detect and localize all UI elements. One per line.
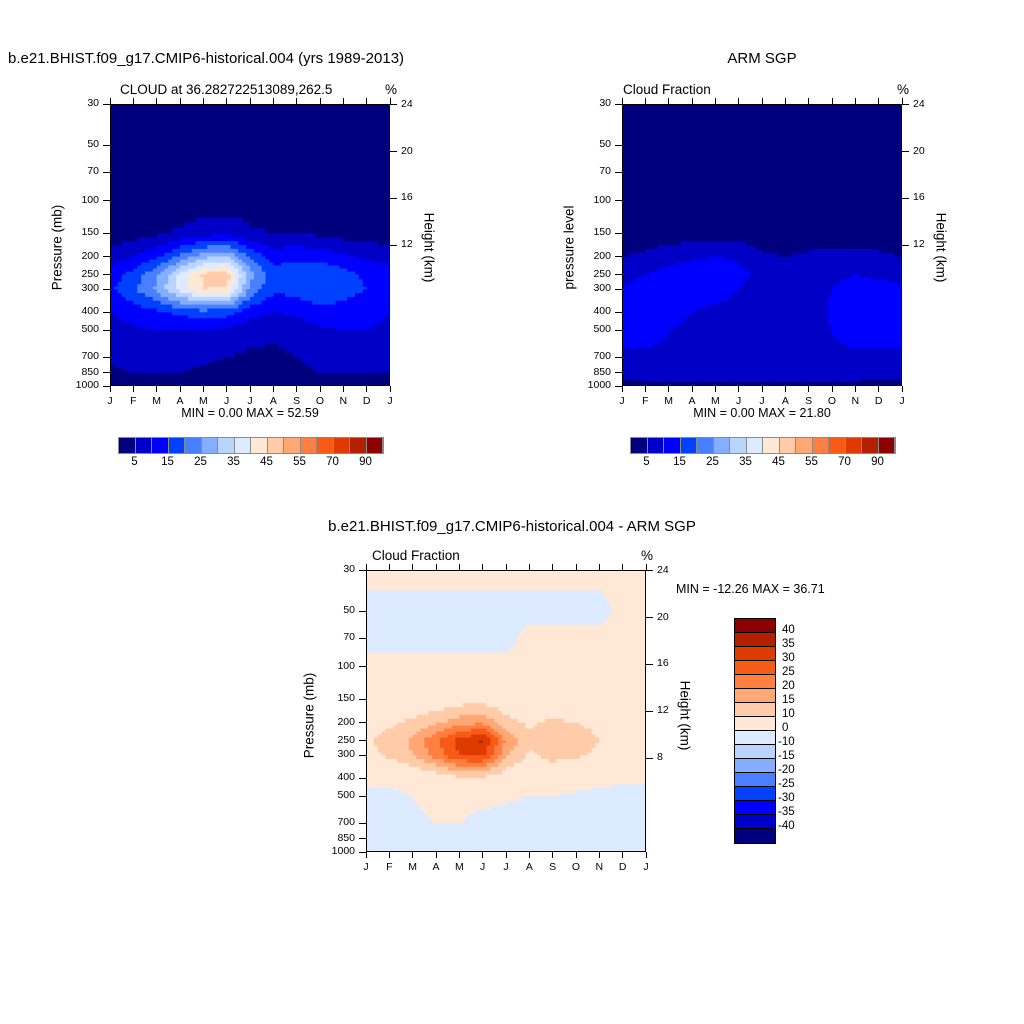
colorbar-tick-label: 90 [862, 456, 894, 468]
month-tick-bottom [832, 386, 833, 392]
model-axes-decor: 3050701001502002503004005007008501000121… [0, 0, 512, 500]
colorbar-tick-label: 35 [730, 456, 762, 468]
month-tick-top [878, 98, 879, 104]
height-tick-label: 8 [657, 751, 687, 763]
difference-minmax: MIN = -12.26 MAX = 36.71 [676, 582, 825, 596]
month-label: M [403, 861, 423, 873]
colorbar-swatch [735, 675, 775, 689]
colorbar-tick-label: -10 [778, 736, 824, 748]
colorbar-swatch [284, 438, 301, 453]
month-tick-top [156, 98, 157, 104]
colorbar-swatch [735, 647, 775, 661]
month-label: J [496, 861, 516, 873]
month-tick-bottom [482, 852, 483, 858]
month-tick-top [180, 98, 181, 104]
pressure-tick-label: 250 [318, 734, 355, 746]
pressure-tick [103, 274, 110, 275]
colorbar-tick-label: 70 [317, 456, 349, 468]
pressure-tick-label: 100 [318, 660, 355, 672]
pressure-tick [615, 274, 622, 275]
difference-colorbar [734, 618, 776, 844]
panel-model: b.e21.BHIST.f09_g17.CMIP6-historical.004… [0, 0, 512, 500]
height-tick-label: 20 [657, 611, 687, 623]
pressure-tick [103, 256, 110, 257]
pressure-tick-label: 700 [574, 350, 611, 362]
month-label: M [449, 861, 469, 873]
pressure-tick-label: 200 [62, 250, 99, 262]
month-label: D [613, 861, 633, 873]
month-tick-bottom [692, 386, 693, 392]
month-label: S [543, 861, 563, 873]
pressure-tick [103, 172, 110, 173]
month-tick-bottom [529, 852, 530, 858]
colorbar-tick-label: 35 [778, 638, 828, 650]
colorbar-tick-label: 45 [251, 456, 283, 468]
month-label: A [426, 861, 446, 873]
pressure-tick [103, 289, 110, 290]
colorbar-swatch [735, 633, 775, 647]
pressure-tick [359, 838, 366, 839]
colorbar-swatch [317, 438, 334, 453]
model-colorbar [118, 437, 384, 454]
height-tick-label: 16 [913, 191, 943, 203]
colorbar-swatch [780, 438, 797, 453]
month-tick-top [645, 98, 646, 104]
colorbar-tick-label: -30 [778, 792, 824, 804]
colorbar-tick-label: 25 [778, 666, 828, 678]
model-colorbar-labels: 515253545557090 [118, 456, 382, 474]
height-tick-label: 24 [913, 98, 943, 110]
month-tick-bottom [738, 386, 739, 392]
pressure-tick-label: 1000 [318, 845, 355, 857]
colorbar-tick-label: 30 [778, 652, 828, 664]
month-tick-bottom [808, 386, 809, 392]
month-tick-bottom [390, 386, 391, 392]
colorbar-swatch [730, 438, 747, 453]
pressure-tick [615, 312, 622, 313]
pressure-tick [103, 145, 110, 146]
difference-colorbar-labels: 403530252015100-10-15-20-25-30-35-40 [778, 618, 838, 842]
month-tick-bottom [133, 386, 134, 392]
colorbar-tick-label: 90 [350, 456, 382, 468]
height-tick [902, 104, 909, 105]
obs-minmax: MIN = 0.00 MAX = 21.80 [622, 406, 902, 420]
month-tick-bottom [250, 386, 251, 392]
month-tick-top [738, 98, 739, 104]
height-tick [390, 104, 397, 105]
month-tick-top [902, 98, 903, 104]
colorbar-swatch [735, 689, 775, 703]
month-tick-top [785, 98, 786, 104]
height-tick-label: 16 [401, 191, 431, 203]
month-label: A [519, 861, 539, 873]
month-tick-bottom [203, 386, 204, 392]
pressure-tick-label: 500 [318, 789, 355, 801]
month-tick-bottom [855, 386, 856, 392]
height-tick-label: 24 [401, 98, 431, 110]
month-tick-bottom [506, 852, 507, 858]
pressure-tick-label: 30 [574, 97, 611, 109]
colorbar-swatch [735, 717, 775, 731]
month-tick-bottom [646, 852, 647, 858]
month-tick-bottom [459, 852, 460, 858]
colorbar-swatch [862, 438, 879, 453]
pressure-tick-label: 100 [62, 194, 99, 206]
colorbar-swatch [681, 438, 698, 453]
month-tick-top [226, 98, 227, 104]
colorbar-tick-label: 15 [664, 456, 696, 468]
pressure-tick-label: 70 [318, 631, 355, 643]
pressure-tick-label: 70 [62, 165, 99, 177]
colorbar-swatch [735, 815, 775, 829]
pressure-tick [359, 666, 366, 667]
pressure-tick-label: 1000 [62, 379, 99, 391]
month-label: N [589, 861, 609, 873]
height-tick [390, 245, 397, 246]
pressure-tick [103, 372, 110, 373]
pressure-tick-label: 150 [574, 226, 611, 238]
colorbar-tick-label: -25 [778, 778, 824, 790]
month-tick-bottom [599, 852, 600, 858]
pressure-tick-label: 300 [62, 282, 99, 294]
colorbar-swatch [735, 773, 775, 787]
pressure-tick [359, 778, 366, 779]
pressure-tick-label: 30 [318, 563, 355, 575]
month-tick-top [762, 98, 763, 104]
height-tick [902, 245, 909, 246]
colorbar-swatch [714, 438, 731, 453]
colorbar-tick-label: 10 [778, 708, 828, 720]
pressure-tick [615, 372, 622, 373]
height-tick-label: 20 [401, 145, 431, 157]
colorbar-tick-label: 5 [119, 456, 151, 468]
height-tick-label: 24 [657, 564, 687, 576]
month-tick-top [133, 98, 134, 104]
pressure-tick [359, 638, 366, 639]
colorbar-swatch [829, 438, 846, 453]
pressure-tick [359, 611, 366, 612]
month-tick-top [855, 98, 856, 104]
month-tick-top [506, 564, 507, 570]
colorbar-tick-label: 0 [778, 722, 828, 734]
height-tick [646, 664, 653, 665]
height-tick [902, 198, 909, 199]
pressure-tick-label: 300 [318, 748, 355, 760]
pressure-tick-label: 50 [574, 138, 611, 150]
colorbar-swatch [735, 829, 775, 843]
month-tick-top [366, 564, 367, 570]
pressure-tick [103, 200, 110, 201]
colorbar-swatch [350, 438, 367, 453]
colorbar-swatch [367, 438, 384, 453]
colorbar-swatch [735, 619, 775, 633]
month-tick-top [343, 98, 344, 104]
month-tick-top [110, 98, 111, 104]
colorbar-swatch [185, 438, 202, 453]
pressure-tick [103, 312, 110, 313]
pressure-tick-label: 850 [318, 832, 355, 844]
month-tick-top [576, 564, 577, 570]
pressure-tick [615, 145, 622, 146]
colorbar-tick-label: 25 [185, 456, 217, 468]
month-tick-bottom [366, 852, 367, 858]
pressure-tick [103, 357, 110, 358]
pressure-tick-label: 500 [574, 323, 611, 335]
pressure-tick [615, 289, 622, 290]
month-tick-top [668, 98, 669, 104]
colorbar-swatch [796, 438, 813, 453]
pressure-tick [615, 357, 622, 358]
month-tick-bottom [273, 386, 274, 392]
colorbar-swatch [735, 661, 775, 675]
pressure-tick-label: 50 [318, 604, 355, 616]
height-tick [646, 711, 653, 712]
colorbar-swatch [735, 801, 775, 815]
month-tick-bottom [785, 386, 786, 392]
month-tick-bottom [366, 386, 367, 392]
pressure-tick [359, 796, 366, 797]
month-tick-bottom [296, 386, 297, 392]
colorbar-tick-label: -20 [778, 764, 824, 776]
colorbar-swatch [648, 438, 665, 453]
colorbar-tick-label: 5 [631, 456, 663, 468]
pressure-tick-label: 850 [62, 366, 99, 378]
month-tick-top [296, 98, 297, 104]
month-tick-top [320, 98, 321, 104]
pressure-tick-label: 400 [318, 771, 355, 783]
month-tick-top [482, 564, 483, 570]
month-tick-bottom [552, 852, 553, 858]
colorbar-tick-label: 35 [218, 456, 250, 468]
colorbar-swatch [251, 438, 268, 453]
month-tick-top [808, 98, 809, 104]
obs-axes-decor: 3050701001502002503004005007008501000121… [512, 0, 1024, 500]
colorbar-swatch [235, 438, 252, 453]
colorbar-swatch [763, 438, 780, 453]
height-tick-label: 20 [913, 145, 943, 157]
month-tick-top [389, 564, 390, 570]
colorbar-tick-label: -35 [778, 806, 824, 818]
pressure-tick [359, 722, 366, 723]
month-tick-top [646, 564, 647, 570]
colorbar-tick-label: 70 [829, 456, 861, 468]
colorbar-tick-label: 15 [778, 694, 828, 706]
pressure-tick [359, 740, 366, 741]
month-tick-top [529, 564, 530, 570]
month-tick-top [436, 564, 437, 570]
month-label: J [356, 861, 376, 873]
pressure-tick [615, 172, 622, 173]
month-label: J [473, 861, 493, 873]
obs-colorbar-labels: 515253545557090 [630, 456, 894, 474]
colorbar-swatch [334, 438, 351, 453]
month-tick-bottom [320, 386, 321, 392]
month-tick-bottom [389, 852, 390, 858]
month-label: J [636, 861, 656, 873]
month-tick-bottom [156, 386, 157, 392]
pressure-tick-label: 30 [62, 97, 99, 109]
height-tick [390, 198, 397, 199]
month-tick-bottom [343, 386, 344, 392]
pressure-tick [359, 755, 366, 756]
colorbar-tick-label: 55 [796, 456, 828, 468]
month-tick-bottom [715, 386, 716, 392]
pressure-tick-label: 50 [62, 138, 99, 150]
colorbar-swatch [631, 438, 648, 453]
colorbar-swatch [202, 438, 219, 453]
height-tick [646, 617, 653, 618]
difference-axes-decor: 3050701001502002503004005007008501000812… [256, 500, 768, 900]
month-tick-bottom [762, 386, 763, 392]
pressure-tick-label: 100 [574, 194, 611, 206]
pressure-tick-label: 200 [574, 250, 611, 262]
colorbar-tick-label: 45 [763, 456, 795, 468]
colorbar-swatch [735, 759, 775, 773]
colorbar-swatch [697, 438, 714, 453]
month-tick-top [366, 98, 367, 104]
colorbar-swatch [119, 438, 136, 453]
pressure-tick-label: 150 [62, 226, 99, 238]
height-tick [902, 151, 909, 152]
pressure-tick-label: 150 [318, 692, 355, 704]
month-tick-top [622, 98, 623, 104]
height-tick [646, 758, 653, 759]
colorbar-swatch [879, 438, 896, 453]
month-tick-bottom [436, 852, 437, 858]
month-tick-bottom [180, 386, 181, 392]
pressure-tick-label: 200 [318, 716, 355, 728]
pressure-tick [103, 233, 110, 234]
pressure-tick-label: 500 [62, 323, 99, 335]
pressure-tick [615, 330, 622, 331]
colorbar-tick-label: -40 [778, 820, 824, 832]
pressure-tick [103, 330, 110, 331]
obs-colorbar [630, 437, 896, 454]
month-label: F [379, 861, 399, 873]
colorbar-tick-label: 25 [697, 456, 729, 468]
colorbar-swatch [747, 438, 764, 453]
pressure-tick [615, 256, 622, 257]
height-tick-label: 12 [401, 238, 431, 250]
pressure-tick-label: 1000 [574, 379, 611, 391]
colorbar-swatch [136, 438, 153, 453]
height-tick-label: 12 [657, 704, 687, 716]
panel-difference: b.e21.BHIST.f09_g17.CMIP6-historical.004… [256, 500, 768, 900]
colorbar-swatch [268, 438, 285, 453]
colorbar-tick-label: 20 [778, 680, 828, 692]
colorbar-swatch [735, 731, 775, 745]
month-tick-top [599, 564, 600, 570]
pressure-tick [359, 699, 366, 700]
colorbar-tick-label: -15 [778, 750, 824, 762]
month-tick-bottom [668, 386, 669, 392]
month-tick-top [622, 564, 623, 570]
month-tick-top [552, 564, 553, 570]
colorbar-swatch [846, 438, 863, 453]
pressure-tick-label: 70 [574, 165, 611, 177]
month-tick-top [390, 98, 391, 104]
month-tick-top [203, 98, 204, 104]
colorbar-swatch [735, 787, 775, 801]
colorbar-swatch [735, 703, 775, 717]
pressure-tick [615, 200, 622, 201]
height-tick [646, 570, 653, 571]
height-tick-label: 16 [657, 657, 687, 669]
month-tick-top [250, 98, 251, 104]
month-tick-bottom [622, 852, 623, 858]
pressure-tick-label: 400 [62, 305, 99, 317]
colorbar-swatch [218, 438, 235, 453]
month-tick-bottom [878, 386, 879, 392]
month-tick-top [832, 98, 833, 104]
pressure-tick-label: 250 [574, 268, 611, 280]
month-tick-top [412, 564, 413, 570]
colorbar-swatch [152, 438, 169, 453]
month-tick-bottom [576, 852, 577, 858]
pressure-tick-label: 700 [62, 350, 99, 362]
pressure-tick-label: 400 [574, 305, 611, 317]
colorbar-swatch [813, 438, 830, 453]
month-tick-top [273, 98, 274, 104]
month-tick-bottom [622, 386, 623, 392]
colorbar-swatch [664, 438, 681, 453]
month-tick-bottom [110, 386, 111, 392]
height-tick-label: 12 [913, 238, 943, 250]
colorbar-swatch [301, 438, 318, 453]
month-tick-bottom [412, 852, 413, 858]
model-minmax: MIN = 0.00 MAX = 52.59 [110, 406, 390, 420]
colorbar-tick-label: 15 [152, 456, 184, 468]
pressure-tick [359, 823, 366, 824]
colorbar-swatch [735, 745, 775, 759]
pressure-tick [615, 233, 622, 234]
pressure-tick-label: 850 [574, 366, 611, 378]
pressure-tick-label: 250 [62, 268, 99, 280]
month-tick-top [692, 98, 693, 104]
month-label: O [566, 861, 586, 873]
month-tick-bottom [226, 386, 227, 392]
month-tick-bottom [902, 386, 903, 392]
month-tick-bottom [645, 386, 646, 392]
height-tick [390, 151, 397, 152]
colorbar-tick-label: 40 [778, 624, 828, 636]
pressure-tick-label: 300 [574, 282, 611, 294]
month-tick-top [459, 564, 460, 570]
month-tick-top [715, 98, 716, 104]
colorbar-tick-label: 55 [284, 456, 316, 468]
colorbar-swatch [169, 438, 186, 453]
pressure-tick-label: 700 [318, 816, 355, 828]
panel-obs: ARM SGP Cloud Fraction % pressure level … [512, 0, 1024, 500]
